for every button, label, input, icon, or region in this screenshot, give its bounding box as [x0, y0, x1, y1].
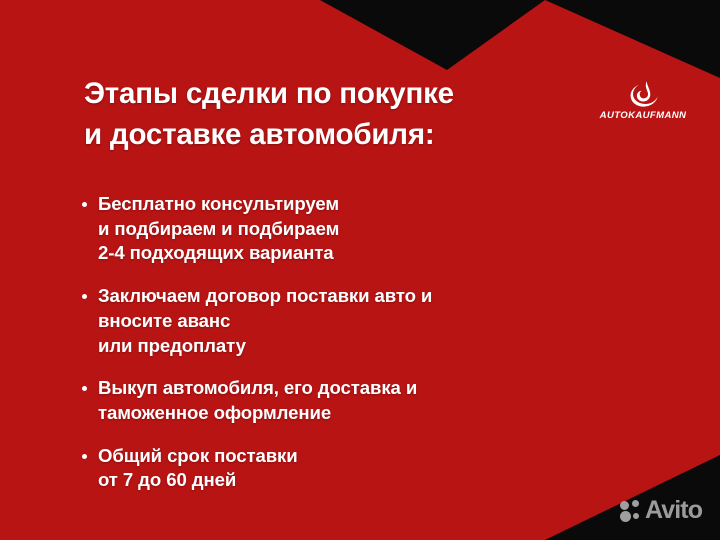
avito-wordmark: Avito	[645, 498, 702, 523]
list-item-text: Заключаем договор поставки авто и вносит…	[98, 284, 432, 358]
steps-list: Бесплатно консультируем и подбираем и по…	[82, 192, 612, 493]
bullet-dot-icon	[82, 386, 87, 391]
autokaufmann-wordmark: AUTOKAUFMANN	[600, 110, 687, 121]
autokaufmann-logo: AUTOKAUFMANN	[588, 80, 698, 121]
bullet-dot-icon	[82, 202, 87, 207]
list-item-text: Общий срок поставки от 7 до 60 дней	[98, 444, 298, 493]
list-item-text: Бесплатно консультируем и подбираем и по…	[98, 192, 339, 266]
promo-banner: Этапы сделки по покупке и доставке автом…	[0, 0, 720, 540]
list-item: Общий срок поставки от 7 до 60 дней	[82, 444, 612, 493]
avito-dots-icon	[620, 500, 642, 522]
list-item-text: Выкуп автомобиля, его доставка и таможен…	[98, 376, 417, 425]
list-item: Бесплатно консультируем и подбираем и по…	[82, 192, 612, 266]
list-item: Заключаем договор поставки авто и вносит…	[82, 284, 612, 358]
bullet-dot-icon	[82, 294, 87, 299]
page-title: Этапы сделки по покупке и доставке автом…	[84, 74, 604, 155]
bullet-dot-icon	[82, 454, 87, 459]
flame-swoosh-icon	[626, 80, 660, 109]
list-item: Выкуп автомобиля, его доставка и таможен…	[82, 376, 612, 425]
avito-watermark: Avito	[620, 498, 702, 523]
